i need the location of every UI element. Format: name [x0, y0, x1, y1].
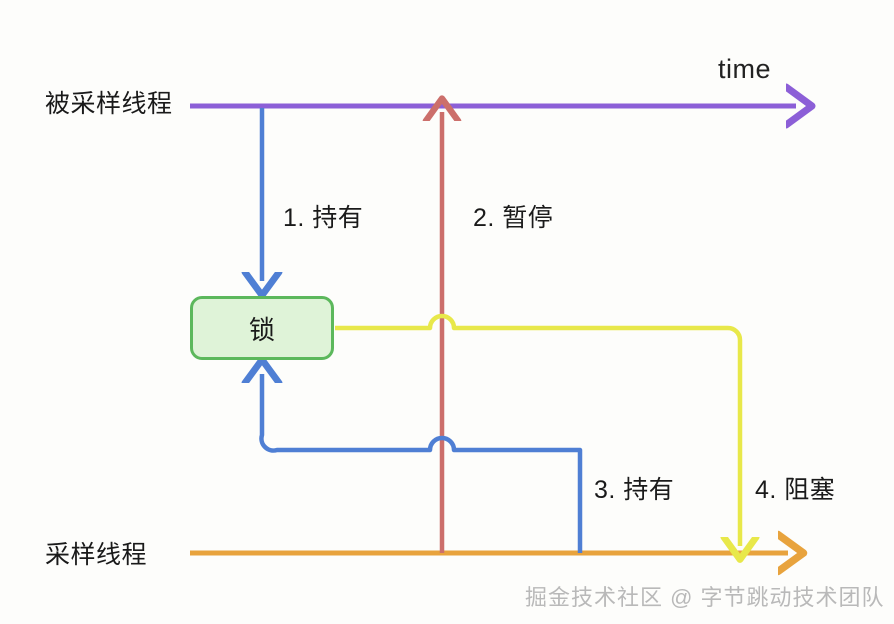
lock-node-label: 锁 [249, 310, 275, 347]
watermark-text: 掘金技术社区 @ 字节跳动技术团队 [525, 580, 885, 612]
step-3-label: 3. 持有 [594, 478, 674, 503]
sampled-thread-label: 被采样线程 [45, 92, 173, 117]
sampling-thread-label: 采样线程 [45, 543, 147, 568]
step-4-label: 4. 阻塞 [755, 478, 835, 503]
lock-node: 锁 [190, 296, 334, 360]
step-4-block-path [335, 316, 740, 546]
step-3-hold-path [261, 374, 580, 553]
step-2-label: 2. 暂停 [473, 206, 553, 231]
time-axis-label: time [718, 56, 771, 83]
step-1-label: 1. 持有 [283, 206, 363, 231]
diagram-canvas: 锁 time 被采样线程 采样线程 1. 持有 2. 暂停 3. 持有 4. 阻… [0, 0, 894, 624]
